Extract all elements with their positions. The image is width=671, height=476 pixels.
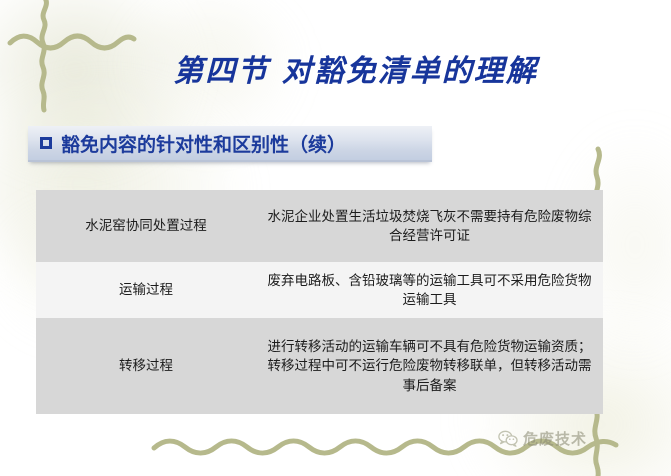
content-table: 水泥窑协同处置过程 水泥企业处置生活垃圾焚烧飞灰不需要持有危险废物综合经营许可证… (36, 190, 603, 414)
bamboo-branch-bottom (150, 432, 620, 460)
table-row: 运输过程 废弃电路板、含铅玻璃等的运输工具可不采用危险货物运输工具 (36, 262, 603, 318)
row-label: 运输过程 (36, 262, 256, 318)
watermark-text: 危废技术 (523, 428, 587, 449)
row-description: 水泥企业处置生活垃圾焚烧飞灰不需要持有危险废物综合经营许可证 (256, 190, 603, 262)
table-row: 转移过程 进行转移活动的运输车辆可不具有危险货物运输资质；转移过程中可不运行危险… (36, 318, 603, 414)
page-title: 第四节 对豁免清单的理解 (0, 46, 671, 90)
watermark: 危废技术 (498, 428, 587, 449)
row-description: 进行转移活动的运输车辆可不具有危险货物运输资质；转移过程中可不运行危险废物转移联… (256, 318, 603, 414)
slide-canvas: 第四节 对豁免清单的理解 豁免内容的针对性和区别性（续） 水泥窑协同处置过程 水… (0, 0, 671, 476)
subtitle-row: 豁免内容的针对性和区别性（续） (40, 128, 346, 158)
square-bullet-icon (40, 137, 52, 149)
row-label: 水泥窑协同处置过程 (36, 190, 256, 262)
subtitle-text: 豁免内容的针对性和区别性（续） (61, 130, 346, 157)
table-row: 水泥窑协同处置过程 水泥企业处置生活垃圾焚烧飞灰不需要持有危险废物综合经营许可证 (36, 190, 603, 262)
row-description: 废弃电路板、含铅玻璃等的运输工具可不采用危险货物运输工具 (256, 262, 603, 318)
wechat-icon (498, 430, 518, 447)
row-label: 转移过程 (36, 318, 256, 414)
